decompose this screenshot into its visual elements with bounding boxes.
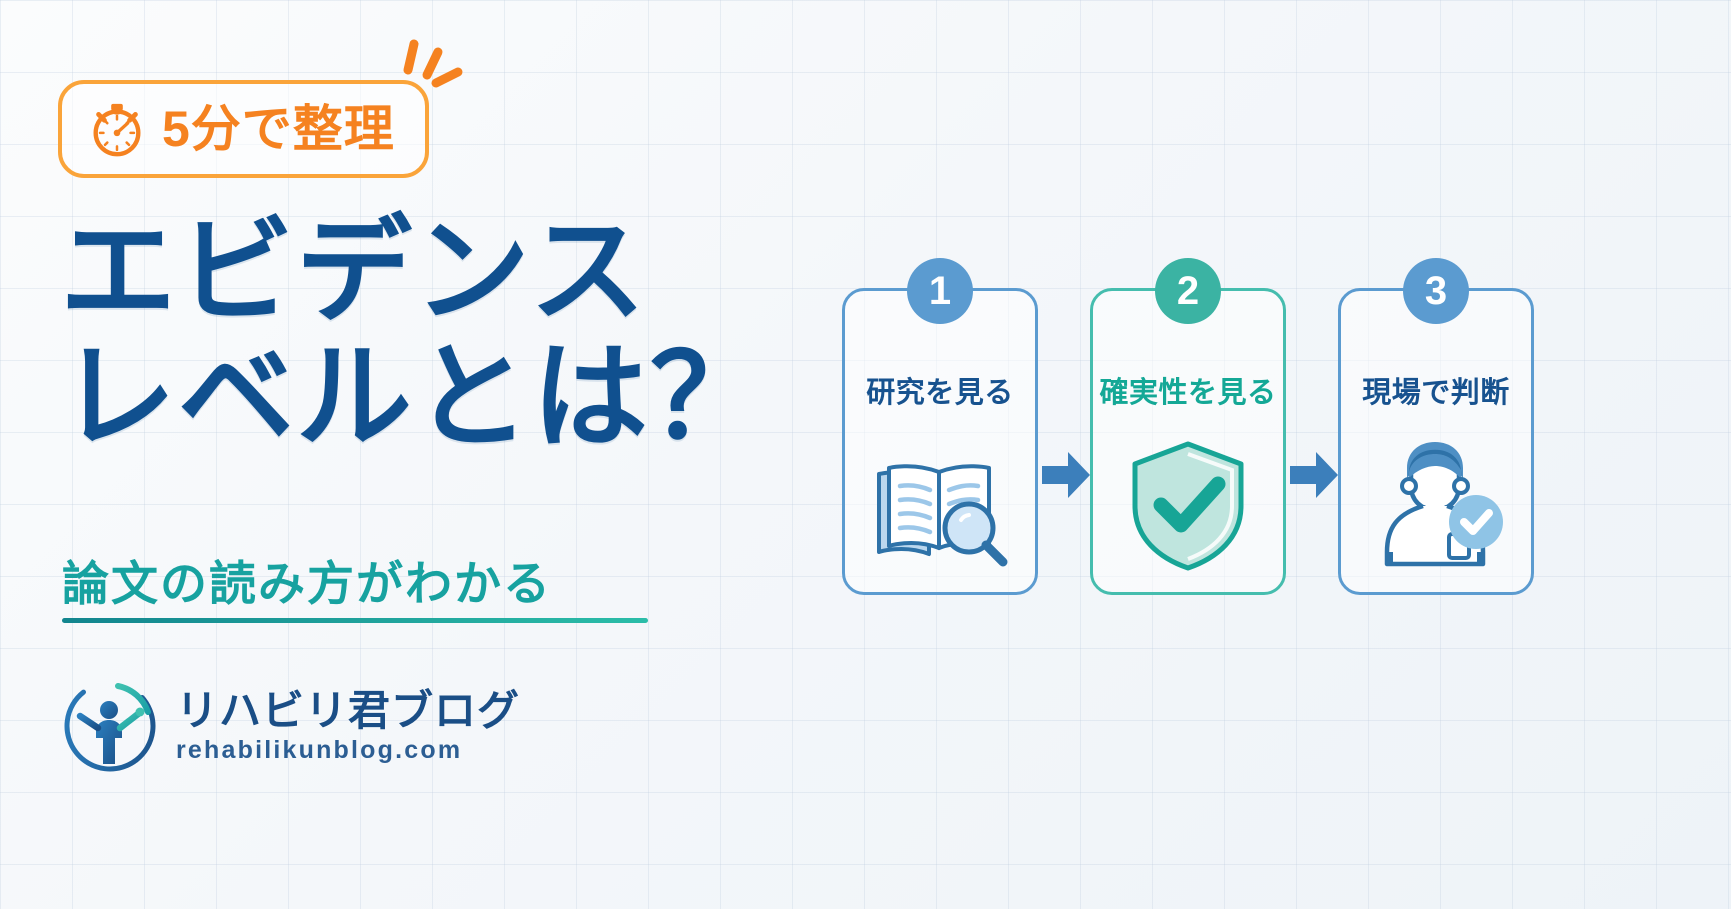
step-number-badge-3: 3	[1403, 258, 1469, 324]
step-number-badge-1: 1	[907, 258, 973, 324]
page-title: エビデンス レベルとは？	[60, 212, 768, 457]
step-label-2: 確実性を見る	[1093, 369, 1283, 411]
step-card-1[interactable]: 1 研究を見る	[842, 288, 1038, 595]
badge-label: 5分で整理	[162, 104, 395, 154]
site-logo[interactable]: リハビリ君ブログ rehabilikunblog.com	[62, 678, 520, 774]
subtitle-underline	[62, 618, 648, 623]
poster-canvas: 5分で整理 エビデンス レベルとは？ 論文の読み方がわかる	[0, 0, 1731, 909]
page-subtitle: 論文の読み方がわかる	[62, 545, 552, 614]
arrow-right-icon	[1042, 452, 1090, 498]
step-label-1: 研究を見る	[845, 369, 1035, 411]
logo-name: リハビリ君ブログ	[176, 689, 520, 733]
title-line-1: エビデンス	[60, 212, 768, 330]
step-label-3: 現場で判断	[1341, 369, 1531, 411]
step-card-2[interactable]: 2 確実性を見る	[1090, 288, 1286, 595]
person-in-circle-logo-icon	[62, 678, 158, 774]
open-book-magnifier-icon	[865, 434, 1015, 574]
steps-flow: 1 研究を見る	[842, 255, 1542, 595]
title-line-2: レベルとは？	[60, 338, 768, 456]
sparkle-icon	[398, 36, 468, 106]
stopwatch-icon	[86, 98, 148, 160]
logo-url: rehabilikunblog.com	[176, 737, 520, 763]
clinician-check-icon	[1361, 434, 1511, 574]
step-card-3[interactable]: 3 現場で判断	[1338, 288, 1534, 595]
time-badge: 5分で整理	[58, 80, 429, 178]
shield-check-icon	[1113, 434, 1263, 574]
step-number-badge-2: 2	[1155, 258, 1221, 324]
arrow-right-icon	[1290, 452, 1338, 498]
